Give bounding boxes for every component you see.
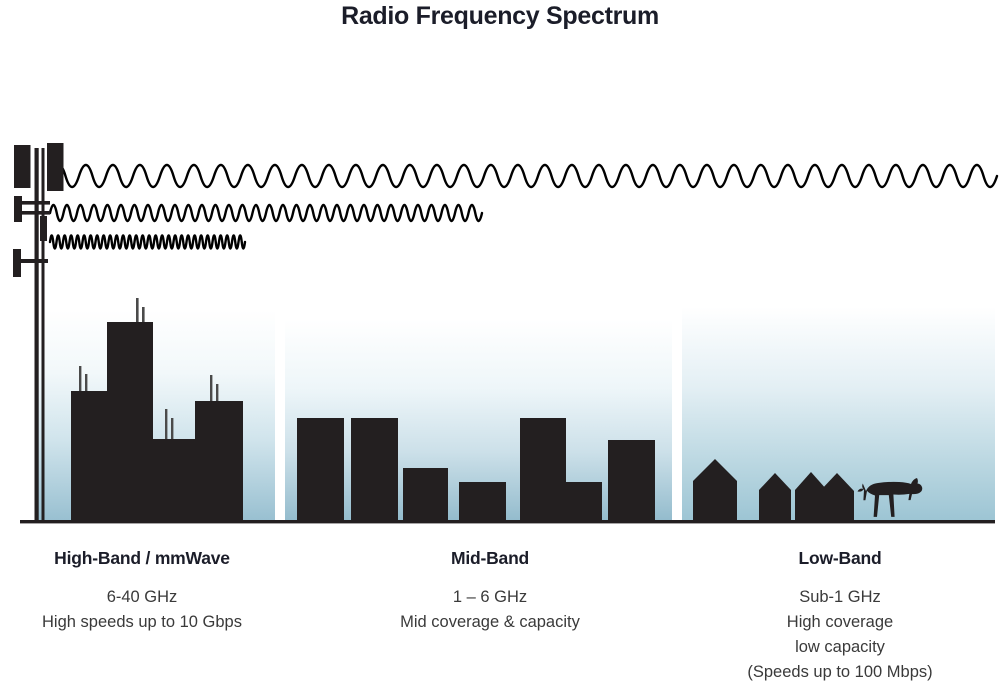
antenna-panel-tier4	[13, 249, 21, 277]
band-frequency-mid-band: 1 – 6 GHz	[330, 585, 650, 610]
band-caption-mid-band: Mid-Band 1 – 6 GHz Mid coverage & capaci…	[330, 548, 650, 635]
high-frequency-wave	[50, 236, 245, 249]
band-title-high-band: High-Band / mmWave	[0, 548, 284, 569]
antenna-panel-top-right	[47, 143, 64, 191]
building-mid-2	[351, 418, 398, 520]
page-title: Radio Frequency Spectrum	[0, 2, 1000, 31]
building-mid-7	[608, 440, 655, 520]
band-speed-mid-band: Mid coverage & capacity	[330, 610, 650, 635]
band-speed-low-band: (Speeds up to 100 Mbps)	[680, 660, 1000, 685]
building-mid-4	[459, 482, 506, 520]
building-tallest	[107, 322, 153, 520]
building-mid-1	[297, 418, 344, 520]
band-capacity-low-band: low capacity	[680, 635, 1000, 660]
building-low-block	[153, 439, 195, 520]
antenna-panel-tier3	[40, 216, 47, 241]
antenna-spire	[171, 418, 173, 439]
antenna-panel-tier2	[14, 196, 22, 222]
spectrum-scene	[0, 120, 1000, 530]
mid-frequency-wave	[50, 205, 482, 221]
tower-crossbar-tier2b	[22, 211, 50, 215]
building-mid-5	[520, 418, 566, 520]
band-speed-high-band: High speeds up to 10 Gbps	[0, 610, 284, 635]
antenna-spire	[165, 409, 167, 439]
tower-crossbar-tier4	[21, 259, 48, 263]
building-mid-3	[403, 468, 448, 520]
band-coverage-low-band: High coverage	[680, 610, 1000, 635]
tower-crossbar-tier2a	[22, 201, 50, 205]
band-caption-high-band: High-Band / mmWave 6-40 GHz High speeds …	[0, 548, 284, 635]
band-caption-low-band: Low-Band Sub-1 GHz High coverage low cap…	[680, 548, 1000, 685]
low-frequency-wave	[52, 165, 997, 187]
band-frequency-low-band: Sub-1 GHz	[680, 585, 1000, 610]
building-tall-1	[71, 391, 107, 520]
band-title-low-band: Low-Band	[680, 548, 1000, 569]
infographic-canvas: Radio Frequency Spectrum	[0, 0, 1000, 700]
antenna-panel-top-left	[14, 145, 31, 188]
building-tall-2	[195, 401, 243, 520]
band-frequency-high-band: 6-40 GHz	[0, 585, 284, 610]
building-mid-6	[566, 482, 602, 520]
band-title-mid-band: Mid-Band	[330, 548, 650, 569]
ground-line	[20, 520, 995, 523]
